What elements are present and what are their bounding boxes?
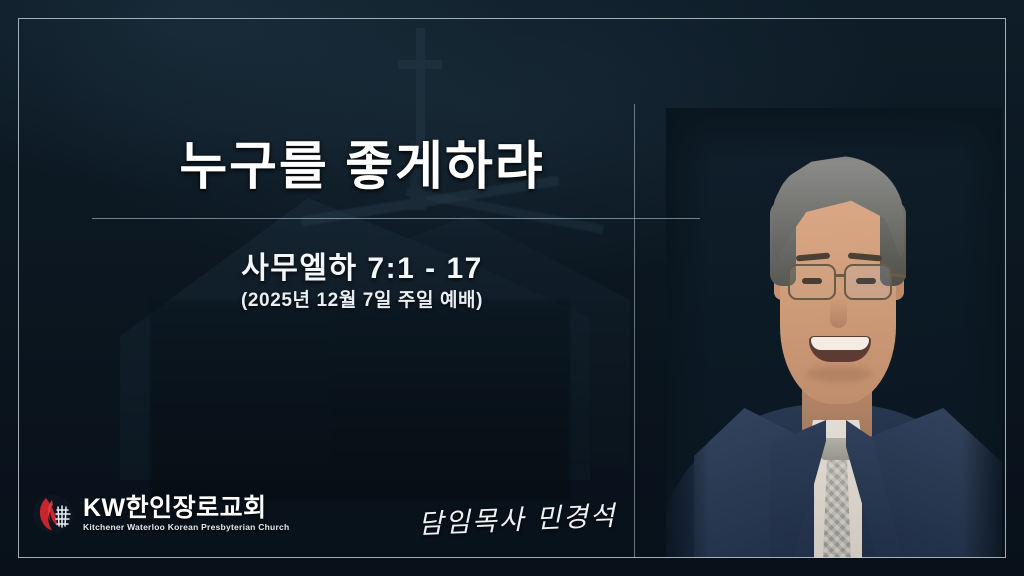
church-wall-shadow	[150, 300, 570, 500]
sermon-title: 누구를 좋게하랴	[92, 139, 632, 196]
cross-and-flame-icon	[32, 494, 74, 534]
cross-horizontal-bar	[398, 60, 442, 69]
pastor-portrait	[666, 108, 1002, 558]
church-name-korean: KW한인장로교회	[83, 496, 289, 521]
cross-vertical-bar	[416, 28, 425, 148]
vertical-divider-rule	[634, 104, 635, 558]
scripture-reference: 사무엘하 7:1 - 17	[92, 243, 632, 287]
cross-icon	[398, 28, 442, 148]
church-logo: KW한인장로교회 Kitchener Waterloo Korean Presb…	[32, 494, 289, 534]
horizontal-divider-rule	[92, 218, 700, 219]
sermon-title-slide: 누구를 좋게하랴 사무엘하 7:1 - 17 (2025년 12월 7일 주일 …	[0, 0, 1024, 576]
church-name-english: Kitchener Waterloo Korean Presbyterian C…	[83, 523, 289, 532]
portrait-edge-blend	[666, 108, 1002, 558]
church-logo-text: KW한인장로교회 Kitchener Waterloo Korean Presb…	[83, 496, 289, 532]
service-date: (2025년 12월 7일 주일 예배)	[92, 285, 632, 312]
